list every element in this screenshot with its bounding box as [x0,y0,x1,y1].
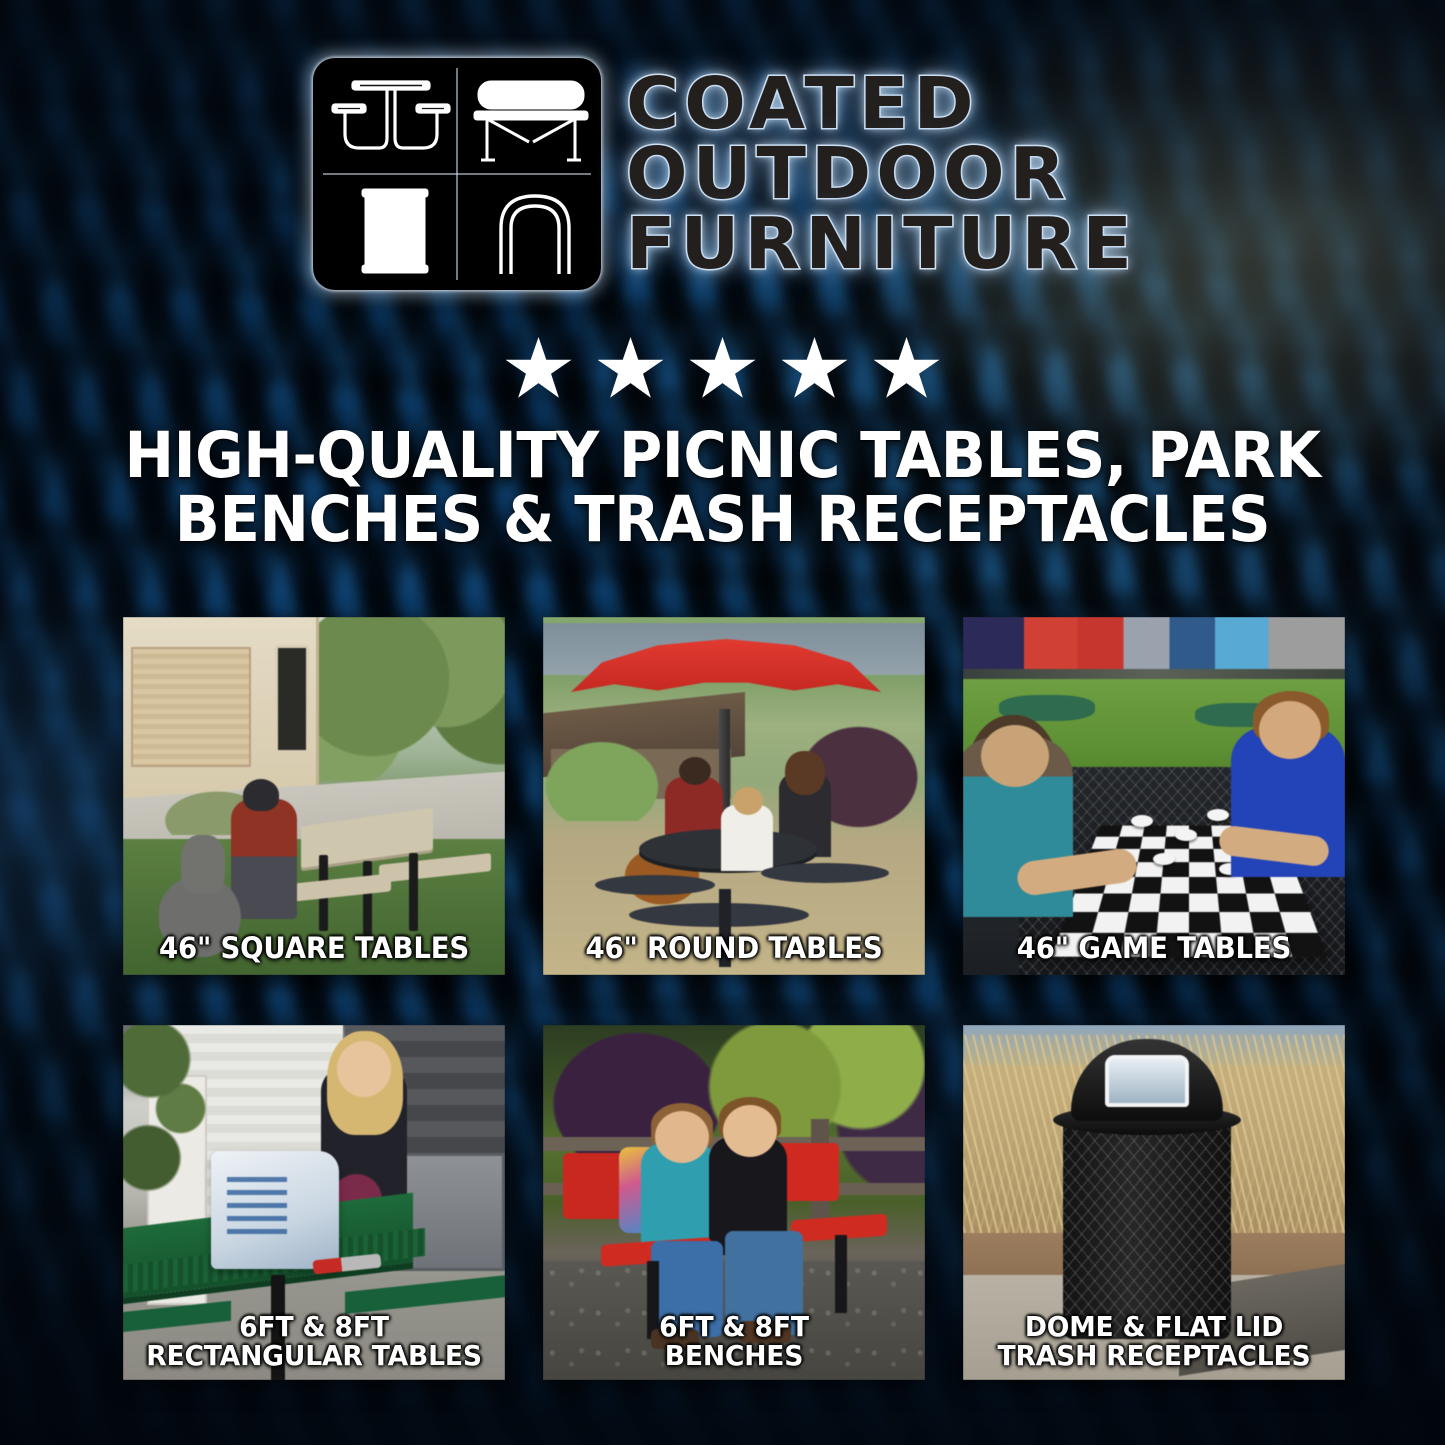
product-caption: 46" GAME TABLES [978,933,1330,963]
photo-checker-piece [1131,815,1153,827]
photo-round-bench-left [595,875,715,895]
product-caption: 6FT & 8FT RECTANGULAR TABLES [138,1312,490,1370]
photo-boy-head [1259,701,1321,759]
photo-boy-left-head [655,1111,709,1163]
star-icon-4 [782,337,848,401]
logo-divider-horizontal [323,173,591,175]
trash-receptacle-icon [359,186,431,276]
photo-checker-piece [1153,853,1175,865]
product-caption: 46" SQUARE TABLES [138,933,490,963]
product-tile-trash-receptacles[interactable]: DOME & FLAT LID TRASH RECEPTACLES [963,1025,1345,1380]
photo-fair-tents [963,617,1345,675]
photo-soil-bag-label [227,1177,287,1241]
photo-boy-right-head [723,1105,777,1157]
product-caption: 6FT & 8FT BENCHES [558,1312,910,1370]
product-photo-round-tables [543,617,925,975]
photo-dog-head [181,835,225,893]
photo-checker-piece [1175,829,1197,841]
picnic-table-icon [327,72,455,172]
star-rating [0,337,1445,401]
star-icon-3 [690,337,756,401]
brand-wordmark: COATED OUTDOOR FURNITURE [631,70,1132,278]
photo-child-head [733,787,763,815]
product-tile-game-tables[interactable]: 46" GAME TABLES [963,617,1345,975]
product-photo-square-tables [123,617,505,975]
photo-bench-leg-right [835,1235,847,1313]
wordmark-line-coated: COATED [626,70,1137,138]
photo-woman-head [981,725,1049,787]
photo-window [275,645,309,753]
wordmark-line-furniture: FURNITURE [626,210,1137,278]
photo-woman-head [785,751,825,795]
photo-table-leg-3 [409,853,418,931]
bench-side-icon [473,76,589,172]
headline-line-1: HIGH-QUALITY PICNIC TABLES, PARK [100,424,1346,488]
photo-hanging-vine [123,1025,219,1211]
photo-table-leg-2 [363,861,372,935]
poster-content: COATED OUTDOOR FURNITURE HIGH-QUALITY PI… [0,0,1445,1445]
photo-garage-door [131,647,251,767]
star-icon-2 [598,337,664,401]
photo-man-head [679,757,711,785]
photo-dome-opening [1105,1055,1189,1107]
photo-bushes [543,735,667,821]
photo-round-bench-right [761,863,889,883]
headline: HIGH-QUALITY PICNIC TABLES, PARK BENCHES… [100,424,1346,553]
headline-line-2: BENCHES & TRASH RECEPTACLES [100,488,1346,552]
star-icon-1 [506,337,572,401]
product-tile-grid: 46" SQUARE TABLES [123,617,1325,1380]
logo-mark-quadrants [313,58,601,290]
wordmark-line-outdoor: OUTDOOR [626,140,1137,208]
star-icon-5 [874,337,940,401]
product-tile-rectangular-tables[interactable]: 6FT & 8FT RECTANGULAR TABLES [123,1025,505,1380]
photo-checker-piece [1207,809,1229,821]
product-tile-benches[interactable]: 6FT & 8FT BENCHES [543,1025,925,1380]
photo-trash-can-mesh [1063,1121,1231,1337]
brand-logo: COATED OUTDOOR FURNITURE [0,58,1445,290]
bike-rack-arch-icon [491,188,579,276]
photo-woman-head [337,1041,391,1097]
product-tile-round-tables[interactable]: 46" ROUND TABLES [543,617,925,975]
product-caption: 46" ROUND TABLES [558,933,910,963]
product-caption: DOME & FLAT LID TRASH RECEPTACLES [978,1312,1330,1370]
product-tile-square-tables[interactable]: 46" SQUARE TABLES [123,617,505,975]
photo-trees [303,617,505,781]
photo-person-head [243,779,279,811]
product-photo-game-tables [963,617,1345,975]
